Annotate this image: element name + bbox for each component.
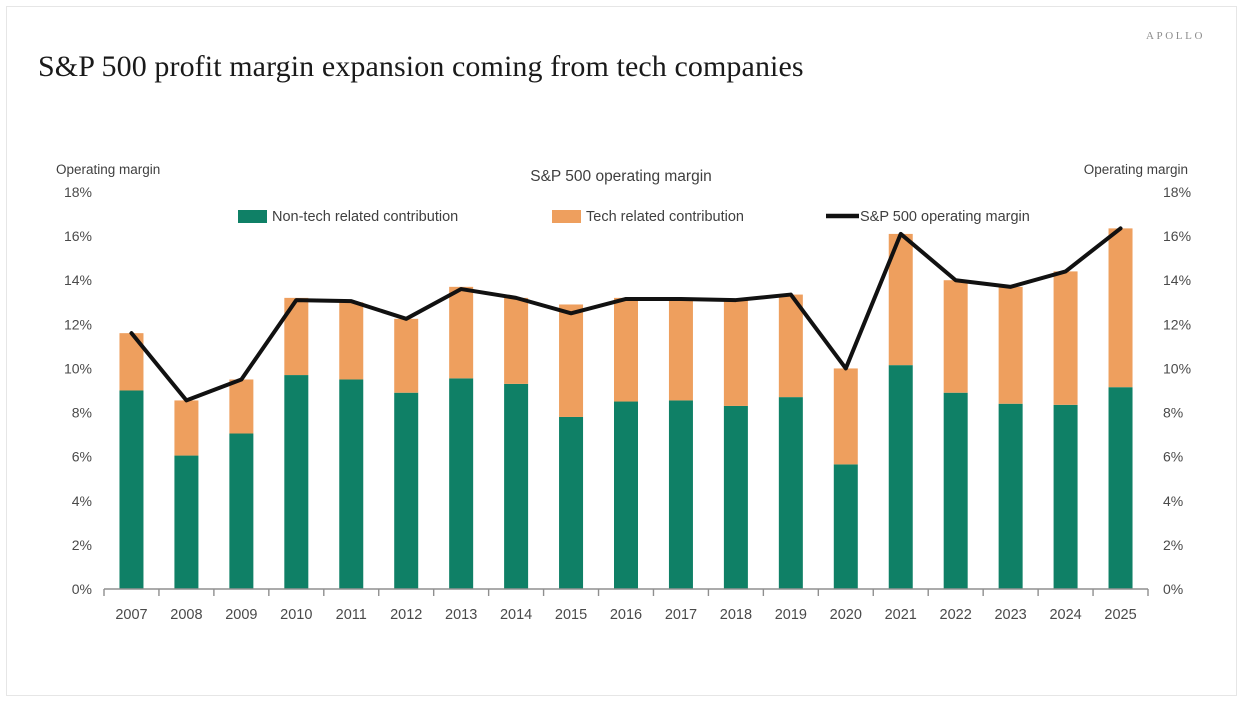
bar-group bbox=[504, 298, 528, 589]
x-tick-label: 2015 bbox=[555, 607, 587, 623]
bar-group bbox=[1054, 271, 1078, 589]
bar-segment bbox=[669, 400, 693, 589]
y-tick-label-right: 6% bbox=[1163, 449, 1183, 465]
x-tick-label: 2017 bbox=[665, 607, 697, 623]
x-tick-label: 2014 bbox=[500, 607, 532, 623]
bar-segment bbox=[944, 280, 968, 392]
bar-segment bbox=[559, 304, 583, 416]
x-tick-label: 2024 bbox=[1049, 607, 1081, 623]
bar-segment bbox=[394, 393, 418, 589]
bar-segment bbox=[999, 287, 1023, 404]
bar-segment bbox=[614, 298, 638, 402]
y-tick-label-right: 2% bbox=[1163, 537, 1183, 553]
x-tick-label: 2022 bbox=[940, 607, 972, 623]
bar-group bbox=[944, 280, 968, 589]
bar-group bbox=[284, 298, 308, 589]
bar-group bbox=[559, 304, 583, 589]
bar-segment bbox=[449, 287, 473, 379]
bar-segment bbox=[779, 397, 803, 589]
bar-segment bbox=[339, 379, 363, 589]
legend-label: Tech related contribution bbox=[586, 209, 744, 225]
bar-group bbox=[449, 287, 473, 589]
x-axis-tick-labels: 2007200820092010201120122013201420152016… bbox=[115, 607, 1136, 623]
legend-swatch bbox=[552, 210, 581, 223]
legend-item: Tech related contribution bbox=[552, 209, 744, 225]
y-tick-label-left: 4% bbox=[72, 493, 92, 509]
y-tick-label-right: 10% bbox=[1163, 360, 1191, 376]
bar-segment bbox=[724, 406, 748, 589]
x-tick-label: 2007 bbox=[115, 607, 147, 623]
legend-swatch bbox=[238, 210, 267, 223]
y-tick-label-right: 0% bbox=[1163, 581, 1183, 597]
x-tick-label: 2019 bbox=[775, 607, 807, 623]
bar-segment bbox=[889, 365, 913, 589]
x-tick-label: 2008 bbox=[170, 607, 202, 623]
y-tick-label-left: 16% bbox=[64, 228, 92, 244]
y-tick-label-left: 2% bbox=[72, 537, 92, 553]
legend-item: S&P 500 operating margin bbox=[826, 209, 1030, 225]
bar-segment bbox=[559, 417, 583, 589]
x-axis bbox=[104, 589, 1148, 596]
bar-group bbox=[174, 400, 198, 589]
bar-segment bbox=[284, 375, 308, 589]
y-tick-label-right: 12% bbox=[1163, 316, 1191, 332]
chart-legend: Non-tech related contributionTech relate… bbox=[238, 209, 1030, 225]
bar-segment bbox=[669, 298, 693, 401]
y-axis-label-right: Operating margin bbox=[1084, 162, 1188, 177]
chart-subtitle: S&P 500 operating margin bbox=[530, 168, 712, 185]
y-tick-label-right: 4% bbox=[1163, 493, 1183, 509]
bar-group bbox=[999, 287, 1023, 589]
x-tick-label: 2012 bbox=[390, 607, 422, 623]
x-tick-label: 2025 bbox=[1104, 607, 1136, 623]
x-tick-label: 2020 bbox=[830, 607, 862, 623]
bar-segment bbox=[834, 368, 858, 464]
bar-group bbox=[339, 302, 363, 589]
bar-group bbox=[834, 368, 858, 589]
bar-segment bbox=[504, 384, 528, 589]
slide-canvas: APOLLO S&P 500 profit margin expansion c… bbox=[0, 0, 1243, 702]
legend-label: S&P 500 operating margin bbox=[860, 209, 1030, 225]
bar-segment bbox=[779, 295, 803, 398]
bar-segment bbox=[229, 434, 253, 589]
bar-group bbox=[119, 333, 143, 589]
y-axis-ticks-left: 0%2%4%6%8%10%12%14%16%18% bbox=[64, 184, 92, 597]
y-tick-label-left: 18% bbox=[64, 184, 92, 200]
bar-segment bbox=[614, 402, 638, 589]
bar-segment bbox=[1054, 271, 1078, 404]
x-tick-label: 2023 bbox=[994, 607, 1026, 623]
bar-segment bbox=[174, 456, 198, 589]
x-tick-label: 2013 bbox=[445, 607, 477, 623]
bar-group bbox=[229, 379, 253, 589]
bar-segment bbox=[1054, 405, 1078, 589]
legend-label: Non-tech related contribution bbox=[272, 209, 458, 225]
y-tick-label-left: 10% bbox=[64, 360, 92, 376]
bar-segment bbox=[119, 391, 143, 590]
y-tick-label-left: 8% bbox=[72, 405, 92, 421]
y-tick-label-left: 6% bbox=[72, 449, 92, 465]
bar-segment bbox=[944, 393, 968, 589]
bar-segment bbox=[999, 404, 1023, 589]
bar-segment bbox=[504, 298, 528, 384]
bar-group bbox=[614, 298, 638, 589]
bar-segment bbox=[1109, 387, 1133, 589]
y-tick-label-left: 0% bbox=[72, 581, 92, 597]
bar-segment bbox=[394, 319, 418, 393]
bar-segment bbox=[1109, 228, 1133, 387]
x-tick-label: 2021 bbox=[885, 607, 917, 623]
y-tick-label-right: 8% bbox=[1163, 405, 1183, 421]
x-tick-label: 2011 bbox=[336, 607, 367, 623]
bar-segment bbox=[449, 378, 473, 589]
x-tick-label: 2009 bbox=[225, 607, 257, 623]
x-tick-label: 2016 bbox=[610, 607, 642, 623]
y-axis-label-left: Operating margin bbox=[56, 162, 160, 177]
legend-item: Non-tech related contribution bbox=[238, 209, 458, 225]
y-axis-ticks-right: 0%2%4%6%8%10%12%14%16%18% bbox=[1163, 184, 1191, 597]
y-tick-label-left: 14% bbox=[64, 272, 92, 288]
y-tick-label-left: 12% bbox=[64, 316, 92, 332]
bar-group bbox=[779, 295, 803, 589]
y-tick-label-right: 18% bbox=[1163, 184, 1191, 200]
bar-group bbox=[1109, 228, 1133, 589]
bar-group bbox=[669, 298, 693, 589]
bar-group bbox=[889, 234, 913, 589]
y-tick-label-right: 16% bbox=[1163, 228, 1191, 244]
bar-segment bbox=[834, 464, 858, 589]
x-tick-label: 2018 bbox=[720, 607, 752, 623]
chart-figure: Operating margin Operating margin S&P 50… bbox=[0, 0, 1243, 702]
bar-segment bbox=[724, 299, 748, 406]
y-tick-label-right: 14% bbox=[1163, 272, 1191, 288]
bar-group bbox=[724, 299, 748, 589]
bar-segment bbox=[339, 302, 363, 379]
bar-group bbox=[394, 319, 418, 589]
x-tick-label: 2010 bbox=[280, 607, 312, 623]
bar-segment bbox=[229, 379, 253, 433]
bar-segment bbox=[174, 400, 198, 455]
